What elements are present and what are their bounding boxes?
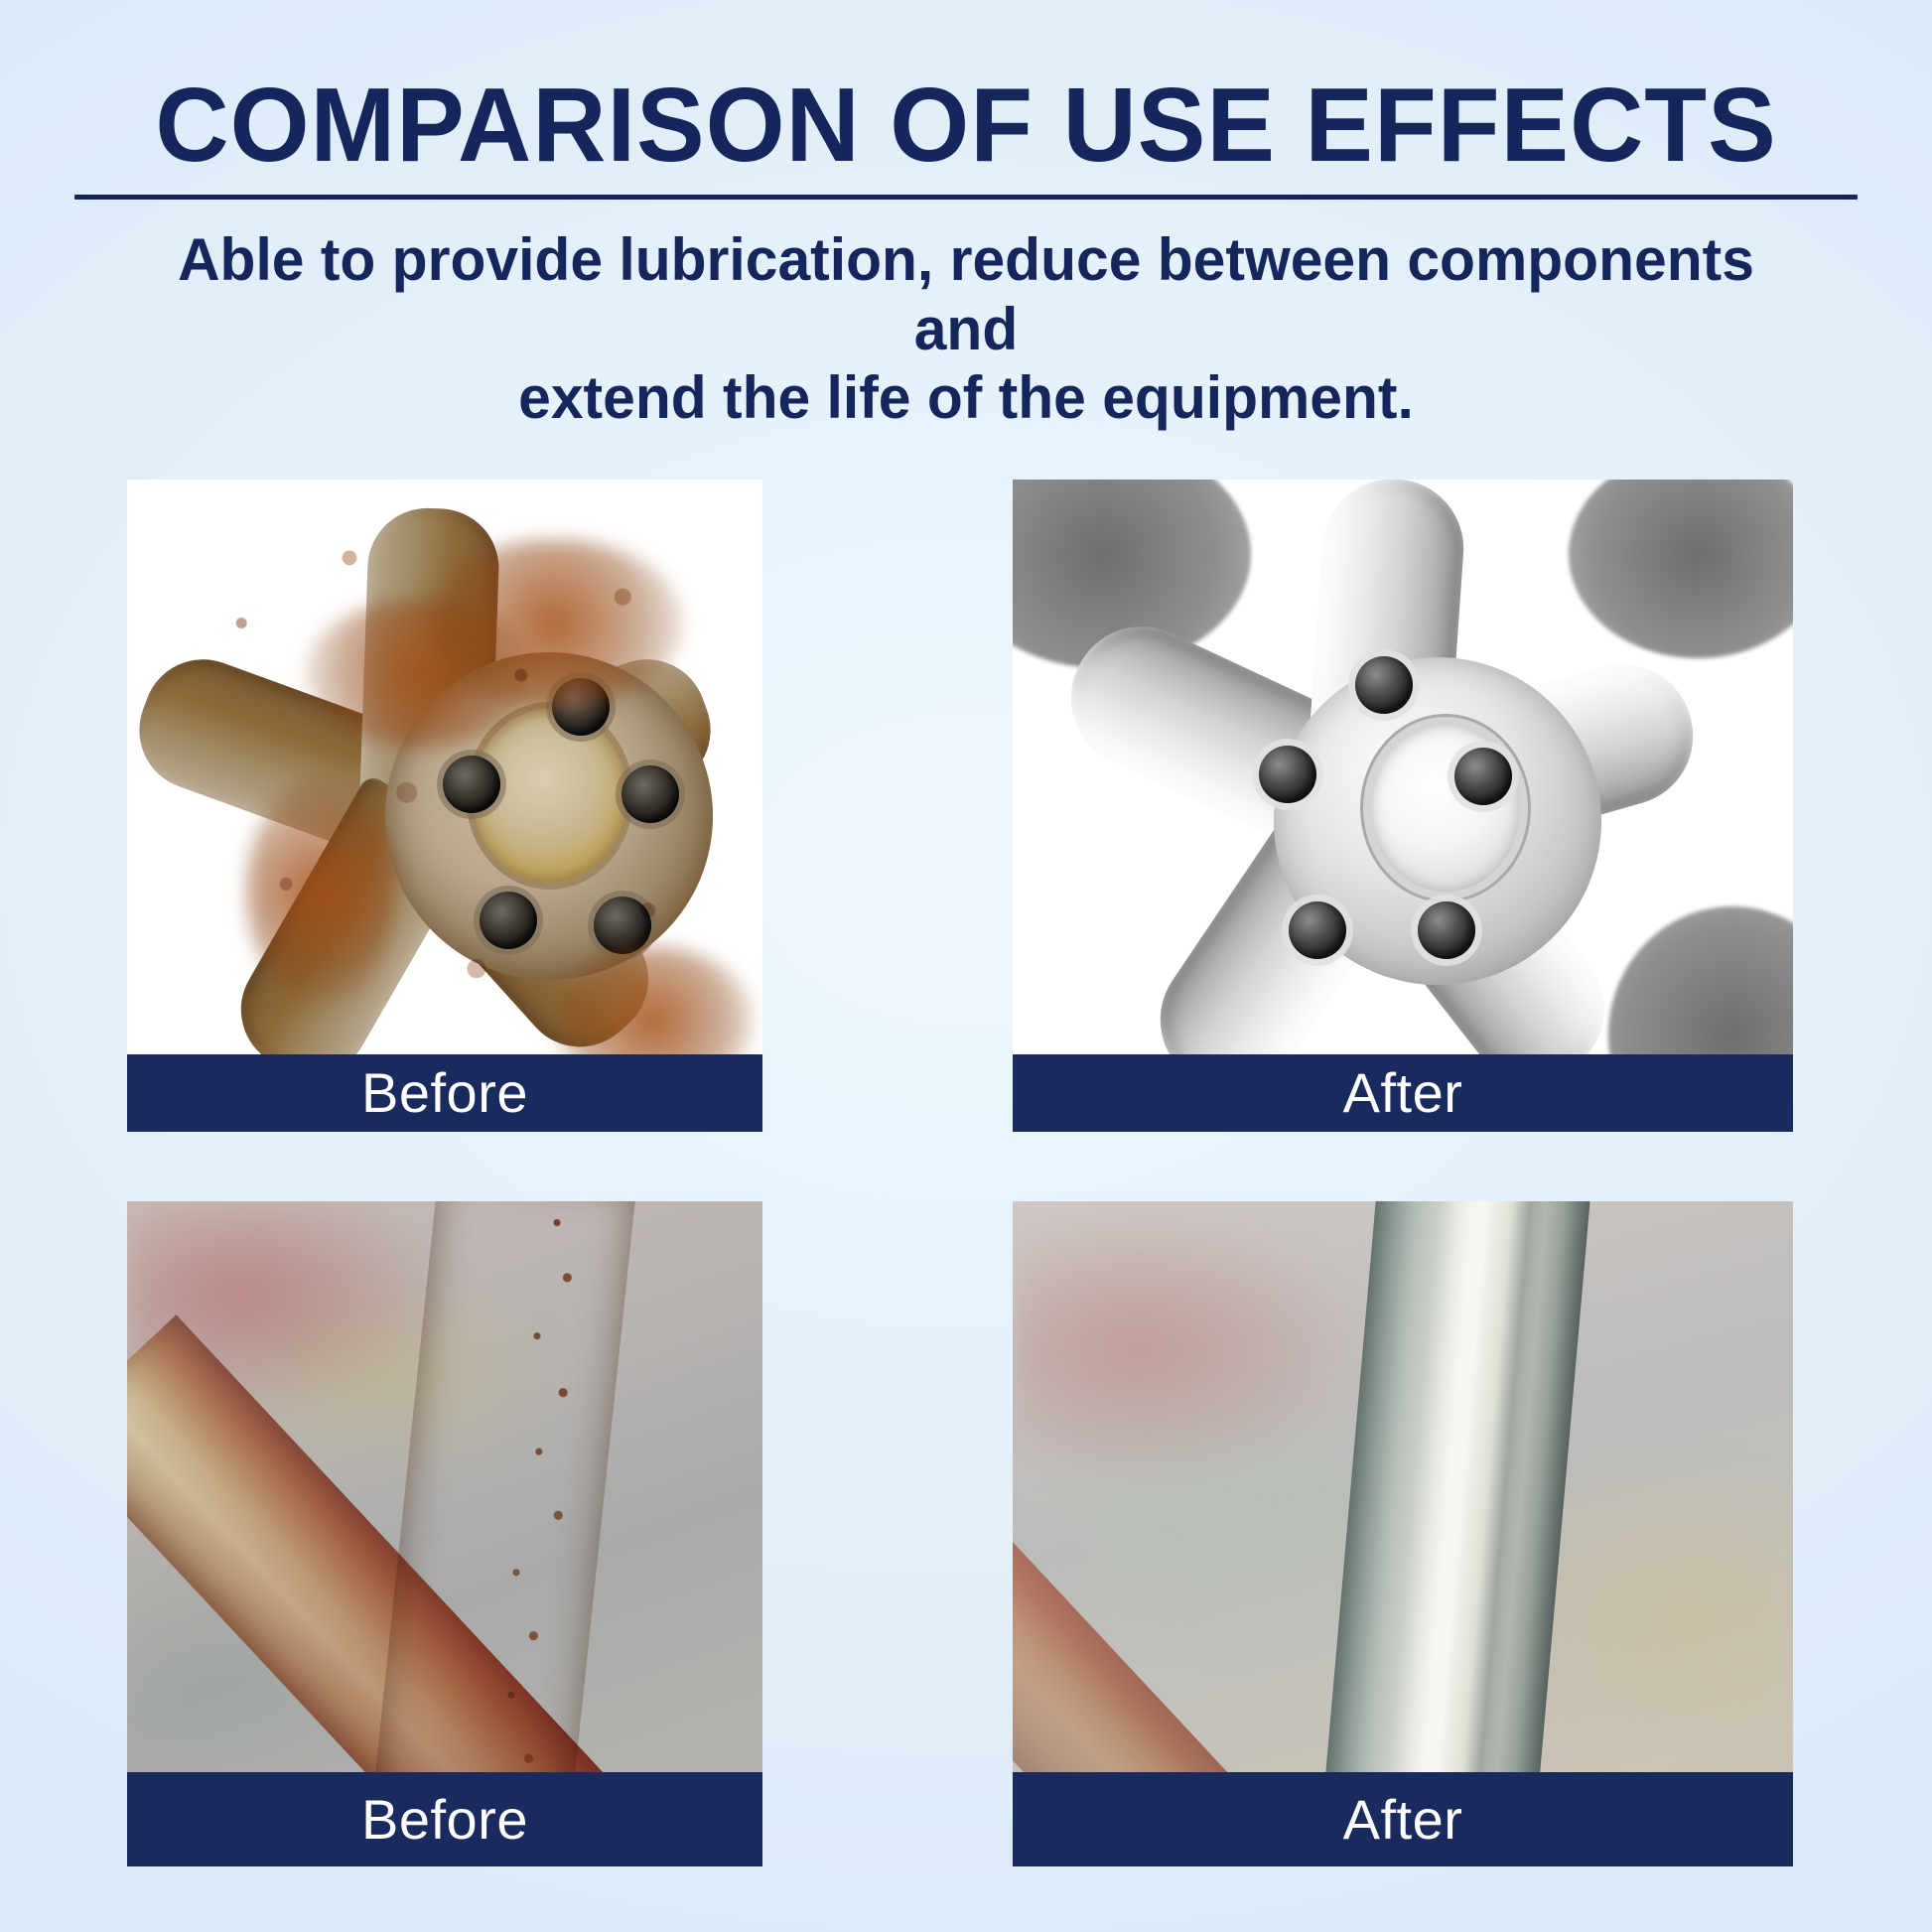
wheel-hub-cap <box>1371 725 1520 892</box>
comparison-panel-before-wheel: Before <box>127 480 762 1132</box>
wheel-window <box>1569 480 1793 658</box>
lug-nut <box>1454 748 1512 805</box>
comparison-panel-before-pole: Before <box>127 1201 762 1866</box>
panel-label-before: Before <box>127 1772 762 1866</box>
lug-nut <box>1418 901 1475 959</box>
comparison-panel-after-wheel: After <box>1013 480 1793 1132</box>
rusty-pole-photo <box>127 1201 762 1866</box>
title-divider <box>74 195 1858 200</box>
lug-nut <box>1289 901 1346 959</box>
comparison-panel-after-pole: After <box>1013 1201 1793 1866</box>
rust-speckle-texture <box>127 480 762 1132</box>
subtitle-line-1: Able to provide lubrication, reduce betw… <box>119 225 1812 363</box>
page-title: COMPARISON OF USE EFFECTS <box>29 71 1903 179</box>
lug-nut <box>1355 656 1413 714</box>
comparison-grid: Before After <box>127 480 1793 1866</box>
rusty-wheel-photo <box>127 480 762 1132</box>
subtitle-line-2: extend the life of the equipment. <box>119 363 1812 433</box>
panel-label-before: Before <box>127 1054 762 1132</box>
lug-nut <box>1259 746 1316 803</box>
clean-pole-photo <box>1013 1201 1793 1866</box>
comparison-poster: COMPARISON OF USE EFFECTS Able to provid… <box>0 0 1932 1932</box>
panel-label-after: After <box>1013 1054 1793 1132</box>
panel-label-after: After <box>1013 1772 1793 1866</box>
clean-wheel-photo <box>1013 480 1793 1132</box>
poster-header: COMPARISON OF USE EFFECTS Able to provid… <box>0 71 1932 433</box>
page-subtitle: Able to provide lubrication, reduce betw… <box>119 225 1812 433</box>
